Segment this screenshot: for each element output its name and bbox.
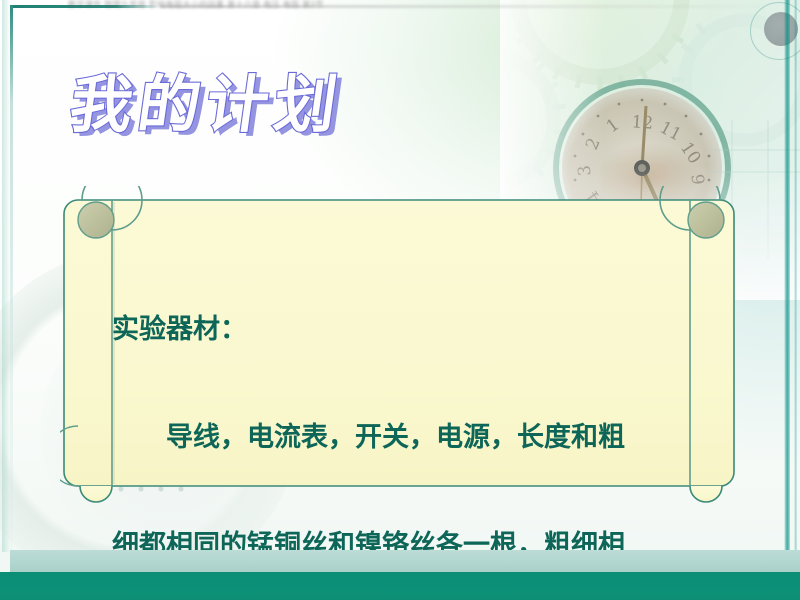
slide-title: 我的计划 我的计划 (66, 66, 486, 146)
footer-light-band (10, 550, 800, 572)
left-frame-glow (2, 0, 10, 552)
left-frame-line (10, 5, 13, 553)
presentation-slide: 12 11 10 9 8 7 6 5 4 3 2 1 Quartz (0, 0, 800, 600)
svg-text:我的计划: 我的计划 (65, 68, 347, 141)
experiment-body-text: 实验器材： 导线，电流表，开关，电源，长度和粗 细都相同的锰铜丝和镍铬丝各一根，… (112, 240, 682, 600)
right-edge-ribbon (784, 0, 790, 600)
background-dot-decoration (764, 12, 798, 46)
right-edge-ribbon-secondary (794, 0, 797, 600)
footer-dark-band (0, 572, 800, 600)
content-scroll-panel: 实验器材： 导线，电流表，开关，电源，长度和粗 细都相同的锰铜丝和镍铬丝各一根，… (60, 186, 750, 526)
body-line-1: 导线，电流表，开关，电源，长度和粗 (112, 420, 682, 456)
ghost-header-text: 教学课件 物理九年级 影响电阻大小的因素 第十六章 电压 电阻 第3节 (68, 0, 336, 9)
body-heading: 实验器材： (112, 312, 682, 348)
